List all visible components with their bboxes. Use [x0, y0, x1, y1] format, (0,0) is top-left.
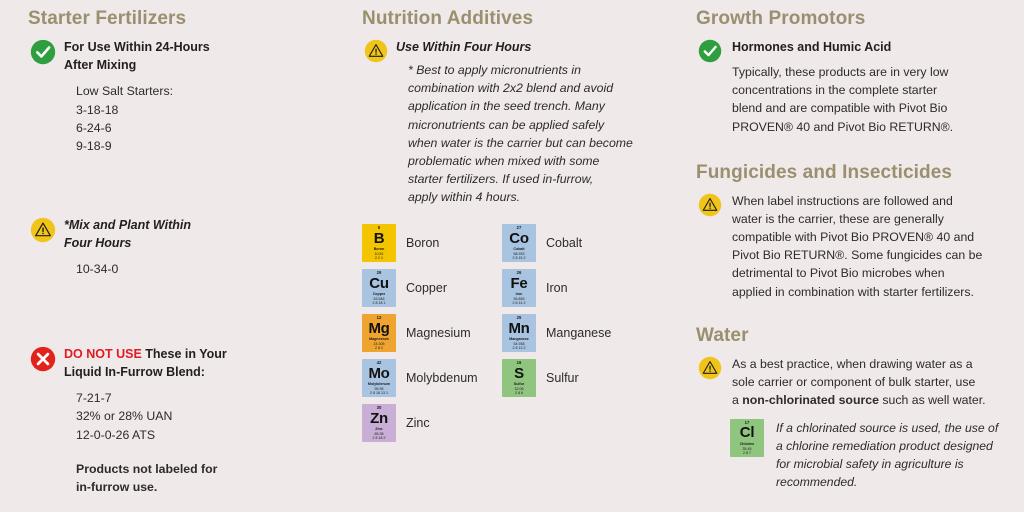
note-line: in-furrow use.: [76, 478, 338, 496]
section-title-growth-promotors: Growth Promotors: [696, 8, 1002, 30]
body-line: when water is the carrier but can become: [408, 134, 672, 152]
section-title-starter-fertilizers: Starter Fertilizers: [28, 8, 338, 30]
starter-stop-values: 7-21-7 32% or 28% UAN 12-0-0-26 ATS: [64, 389, 338, 444]
warning-triangle-icon: [698, 356, 722, 380]
starter-stop-note: Products not labeled for in-furrow use.: [64, 460, 338, 496]
element-config: 2 8 14 2: [513, 301, 526, 305]
element-row: 27CoCobalt58.9332 8 15 2Cobalt: [502, 224, 662, 262]
do-not-use-rest: These in Your: [142, 347, 227, 361]
starter-warning-heading-2: Four Hours: [64, 234, 338, 252]
element-config: 2 8 18 1: [373, 301, 386, 305]
element-tile-iron: 26FeIron55.8452 8 14 2: [502, 269, 536, 307]
body-line: recommended.: [776, 473, 998, 491]
element-label: Boron: [406, 236, 439, 250]
starter-warning-values: 10-34-0: [64, 260, 338, 278]
note-line: Products not labeled for: [76, 460, 338, 478]
element-row: 29CuCopper63.5462 8 18 1Copper: [362, 269, 502, 307]
element-label: Magnesium: [406, 326, 471, 340]
body-line: apply within 4 hours.: [408, 188, 672, 206]
element-tile-zinc: 30ZnZinc65.382 8 18 2: [362, 404, 396, 442]
value-item: 7-21-7: [76, 389, 338, 407]
starter-check-block: For Use Within 24-Hours After Mixing Low…: [28, 38, 338, 156]
element-tile-boron: 5BBoron10.812 2 1: [362, 224, 396, 262]
element-tile-manganese: 25MnManganese54.9382 8 13 2: [502, 314, 536, 352]
body-line: concentrations in the complete starter: [732, 81, 1002, 99]
do-not-use-label: DO NOT USE: [64, 347, 142, 361]
starter-stop-heading-2: Liquid In-Furrow Blend:: [64, 363, 338, 381]
element-config: 2 8 13 2: [513, 346, 526, 350]
element-tile-copper: 29CuCopper63.5462 8 18 1: [362, 269, 396, 307]
check-circle-icon: [30, 39, 56, 65]
element-label: Zinc: [406, 416, 430, 430]
body-line: application in the seed trench. Many: [408, 97, 672, 115]
element-symbol: B: [374, 231, 385, 248]
fungicides-body: When label instructions are followed and…: [732, 192, 1002, 301]
body-line: applied in combination with starter fert…: [732, 283, 1002, 301]
element-column-a: 5BBoron10.812 2 1Boron29CuCopper63.5462 …: [362, 224, 502, 449]
element-row: 26FeIron55.8452 8 14 2Iron: [502, 269, 662, 307]
starter-warning-heading-1: *Mix and Plant Within: [64, 216, 338, 234]
water-body: As a best practice, when drawing water a…: [732, 355, 1002, 410]
check-circle-icon: [698, 39, 722, 63]
element-row: 30ZnZinc65.382 8 18 2Zinc: [362, 404, 502, 442]
body-line: blend and are compatible with Pivot Bio: [732, 99, 1002, 117]
element-symbol: Zn: [370, 411, 388, 428]
stop-x-icon: [30, 346, 56, 372]
warning-triangle-icon: [698, 193, 722, 217]
body-line: As a best practice, when drawing water a…: [732, 355, 1002, 373]
section-title-water: Water: [696, 325, 1002, 347]
element-label: Manganese: [546, 326, 611, 340]
non-chlorinated-source-label: non-chlorinated source: [742, 393, 879, 407]
element-label: Iron: [546, 281, 568, 295]
starter-check-heading-2: After Mixing: [64, 56, 338, 74]
element-tile-molybdenum: 42MoMolybdenum95.952 8 18 13 1: [362, 359, 396, 397]
water-line3-post: such as well water.: [879, 393, 986, 407]
element-row: 25MnManganese54.9382 8 13 2Manganese: [502, 314, 662, 352]
chlorine-note-block: 17ClChlorine35.452 8 7 If a chlorinated …: [696, 419, 1002, 491]
element-tile-magnesium: 12MgMagnesium24.3052 8 2: [362, 314, 396, 352]
body-line: a chlorine remediation product designed: [776, 437, 998, 455]
element-symbol: Mo: [368, 366, 389, 383]
element-symbol: Cu: [369, 276, 388, 293]
value-item: 3-18-18: [76, 101, 338, 119]
body-line: detrimental to Pivot Bio microbes when: [732, 264, 1002, 282]
element-symbol: Mg: [368, 321, 389, 338]
nutrition-warning-block: Use Within Four Hours * Best to apply mi…: [362, 38, 672, 207]
body-line: for microbial safety in agriculture is: [776, 455, 998, 473]
body-line: sole carrier or component of bulk starte…: [732, 373, 1002, 391]
value-item: 6-24-6: [76, 119, 338, 137]
section-title-nutrition-additives: Nutrition Additives: [362, 8, 672, 30]
element-label: Sulfur: [546, 371, 579, 385]
element-tile-sulfur: 16SSulfur32.062 8 6: [502, 359, 536, 397]
element-tiles-group: 5BBoron10.812 2 1Boron29CuCopper63.5462 …: [362, 224, 672, 449]
body-line: micronutrients can be applied safely: [408, 116, 672, 134]
element-tile-chlorine: 17ClChlorine35.452 8 7: [730, 419, 764, 457]
warning-triangle-icon: [30, 217, 56, 243]
warning-triangle-icon: [364, 39, 388, 63]
element-label: Cobalt: [546, 236, 582, 250]
element-config: 2 8 6: [515, 391, 523, 395]
section-title-fungicides: Fungicides and Insecticides: [696, 162, 1002, 184]
body-line: starter fertilizers. If used in-furrow,: [408, 170, 672, 188]
element-symbol: Mn: [508, 321, 529, 338]
water-block: As a best practice, when drawing water a…: [696, 355, 1002, 410]
element-symbol: S: [514, 366, 524, 383]
starter-check-heading-1: For Use Within 24-Hours: [64, 38, 338, 56]
value-item: Low Salt Starters:: [76, 82, 338, 100]
element-config: 2 8 18 2: [373, 436, 386, 440]
body-line: combination with 2x2 blend and avoid: [408, 79, 672, 97]
element-config: 2 8 7: [743, 451, 751, 455]
fungicides-block: When label instructions are followed and…: [696, 192, 1002, 301]
infographic-page: Starter Fertilizers For Use Within 24-Ho…: [0, 0, 1024, 512]
body-line-emphasis: a non-chlorinated source such as well wa…: [732, 391, 1002, 409]
element-config: 2 8 15 2: [513, 256, 526, 260]
element-symbol: Fe: [511, 276, 528, 293]
column-starter-fertilizers: Starter Fertilizers For Use Within 24-Ho…: [0, 0, 352, 512]
nutrition-warning-body: * Best to apply micronutrients in combin…: [396, 61, 672, 207]
element-row: 12MgMagnesium24.3052 8 2Magnesium: [362, 314, 502, 352]
element-row: 16SSulfur32.062 8 6Sulfur: [502, 359, 662, 397]
body-line: Pivot Bio RETURN®. Some fungicides can b…: [732, 246, 1002, 264]
value-item: 9-18-9: [76, 137, 338, 155]
nutrition-warning-heading: Use Within Four Hours: [396, 38, 672, 56]
body-line: If a chlorinated source is used, the use…: [776, 419, 998, 437]
body-line: problematic when mixed with some: [408, 152, 672, 170]
element-config: 2 8 18 13 1: [370, 391, 388, 395]
body-line: compatible with Pivot Bio PROVEN® 40 and: [732, 228, 1002, 246]
element-row: 42MoMolybdenum95.952 8 18 13 1Molybdenum: [362, 359, 502, 397]
value-item: 12-0-0-26 ATS: [76, 426, 338, 444]
growth-promotors-heading: Hormones and Humic Acid: [732, 38, 1002, 56]
element-label: Copper: [406, 281, 447, 295]
body-line: PROVEN® 40 and Pivot Bio RETURN®.: [732, 118, 1002, 136]
element-config: 2 2 1: [375, 256, 383, 260]
element-label: Molybdenum: [406, 371, 478, 385]
starter-stop-heading-1: DO NOT USE These in Your: [64, 345, 338, 363]
value-item: 32% or 28% UAN: [76, 407, 338, 425]
water-line3-pre: a: [732, 393, 742, 407]
growth-promotors-body: Typically, these products are in very lo…: [732, 63, 1002, 136]
element-row: 5BBoron10.812 2 1Boron: [362, 224, 502, 262]
chlorine-note-text: If a chlorinated source is used, the use…: [776, 419, 998, 491]
starter-warning-block: *Mix and Plant Within Four Hours 10-34-0: [28, 216, 338, 279]
body-line: When label instructions are followed and: [732, 192, 1002, 210]
element-tile-cobalt: 27CoCobalt58.9332 8 15 2: [502, 224, 536, 262]
element-column-b: 27CoCobalt58.9332 8 15 2Cobalt26FeIron55…: [502, 224, 662, 449]
body-line: Typically, these products are in very lo…: [732, 63, 1002, 81]
starter-check-values: Low Salt Starters: 3-18-18 6-24-6 9-18-9: [64, 82, 338, 156]
body-line: * Best to apply micronutrients in: [408, 61, 672, 79]
column-right: Growth Promotors Hormones and Humic Acid…: [682, 0, 1024, 512]
body-line: water is the carrier, these are generall…: [732, 210, 1002, 228]
element-symbol: Cl: [740, 425, 754, 442]
column-nutrition-additives: Nutrition Additives Use Within Four Hour…: [352, 0, 682, 512]
element-config: 2 8 2: [375, 346, 383, 350]
growth-promotors-block: Hormones and Humic Acid Typically, these…: [696, 38, 1002, 136]
value-item: 10-34-0: [76, 260, 338, 278]
starter-stop-block: DO NOT USE These in Your Liquid In-Furro…: [28, 345, 338, 497]
element-symbol: Co: [509, 231, 528, 248]
